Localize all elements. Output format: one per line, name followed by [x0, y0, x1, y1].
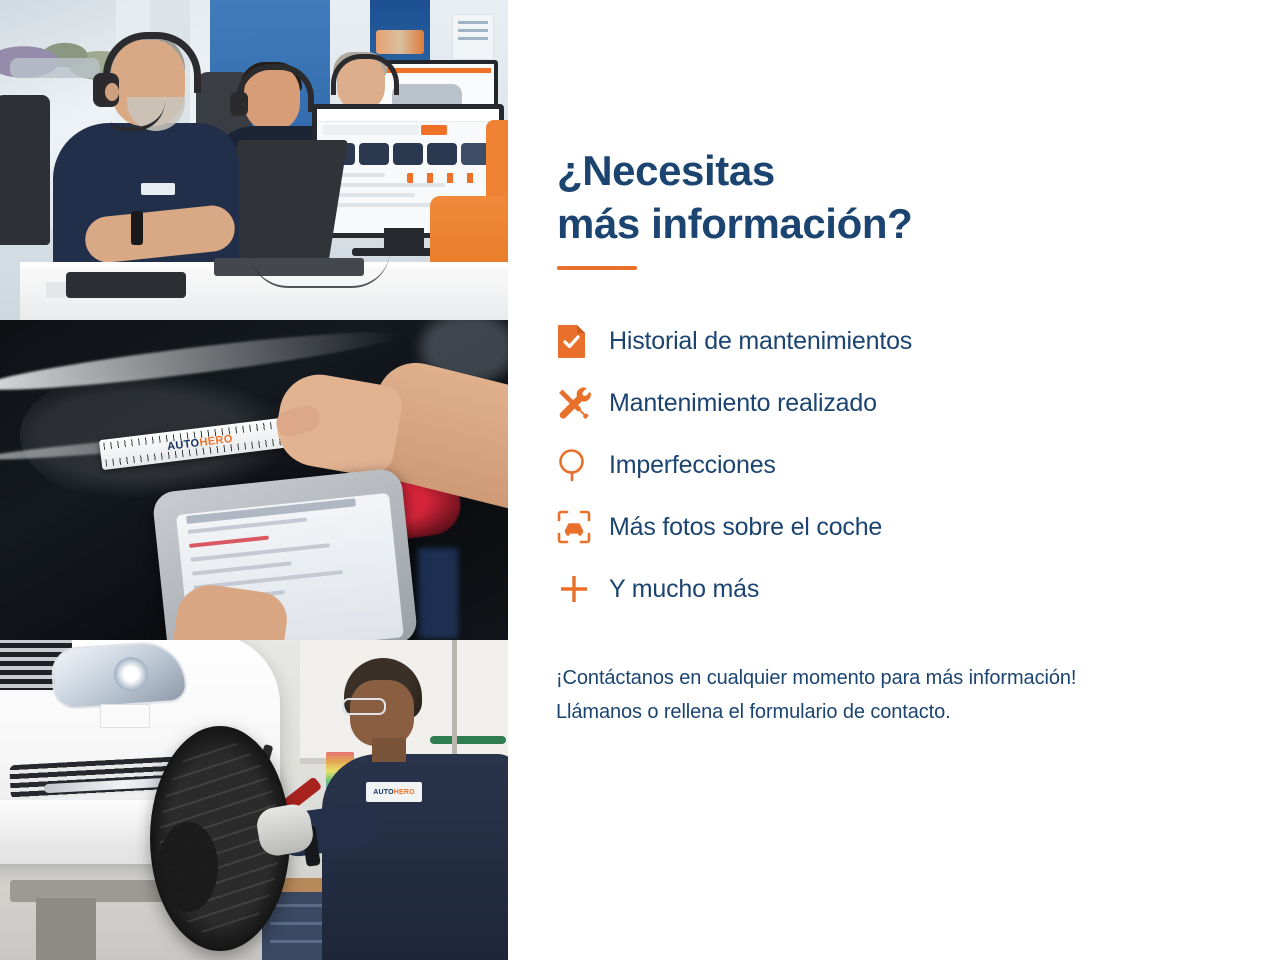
contact-paragraph: ¡Contáctanos en cualquier momento para m…	[556, 661, 1236, 730]
feature-item-mas: Y mucho más	[557, 558, 1117, 620]
feature-label: Imperfecciones	[609, 453, 776, 478]
contact-paragraph-line-1: ¡Contáctanos en cualquier momento para m…	[556, 667, 1076, 689]
page-title-line-1: ¿Necesitas	[557, 147, 775, 194]
page-title-line-2: más información?	[557, 200, 912, 247]
contact-paragraph-line-2: Llámanos o rellena el formulario de cont…	[556, 701, 951, 723]
photo-column: AUTOHERO	[0, 0, 508, 960]
call-center-agents-photo	[0, 0, 508, 320]
uniform-brand-auto: AUTO	[373, 789, 394, 796]
car-inspection-ruler-photo: AUTOHERO	[0, 320, 508, 640]
page-title: ¿Necesitas más información?	[557, 145, 977, 251]
feature-item-mantenimiento: Mantenimiento realizado	[557, 372, 1117, 434]
document-check-icon	[557, 324, 609, 358]
feature-item-historial: Historial de mantenimientos	[557, 310, 1117, 372]
mechanic-wheel-photo: AUTOHERO	[0, 640, 508, 960]
feature-label: Y mucho más	[609, 577, 759, 602]
feature-item-imperfecciones: Imperfecciones	[557, 434, 1117, 496]
content-panel: ¿Necesitas más información? Historial de…	[508, 0, 1280, 960]
feature-item-fotos: Más fotos sobre el coche	[557, 496, 1117, 558]
uniform-brand-hero: HERO	[394, 789, 415, 796]
magnifier-icon	[557, 448, 609, 482]
feature-list: Historial de mantenimientos Mantenimient…	[557, 310, 1117, 620]
feature-label: Mantenimiento realizado	[609, 391, 877, 416]
car-photo-icon	[557, 510, 609, 544]
tools-icon	[557, 386, 609, 420]
plus-icon	[557, 572, 609, 606]
promo-panel: AUTOHERO	[0, 0, 1280, 960]
feature-label: Historial de mantenimientos	[609, 329, 912, 354]
feature-label: Más fotos sobre el coche	[609, 515, 882, 540]
title-underline-rule	[557, 266, 637, 270]
